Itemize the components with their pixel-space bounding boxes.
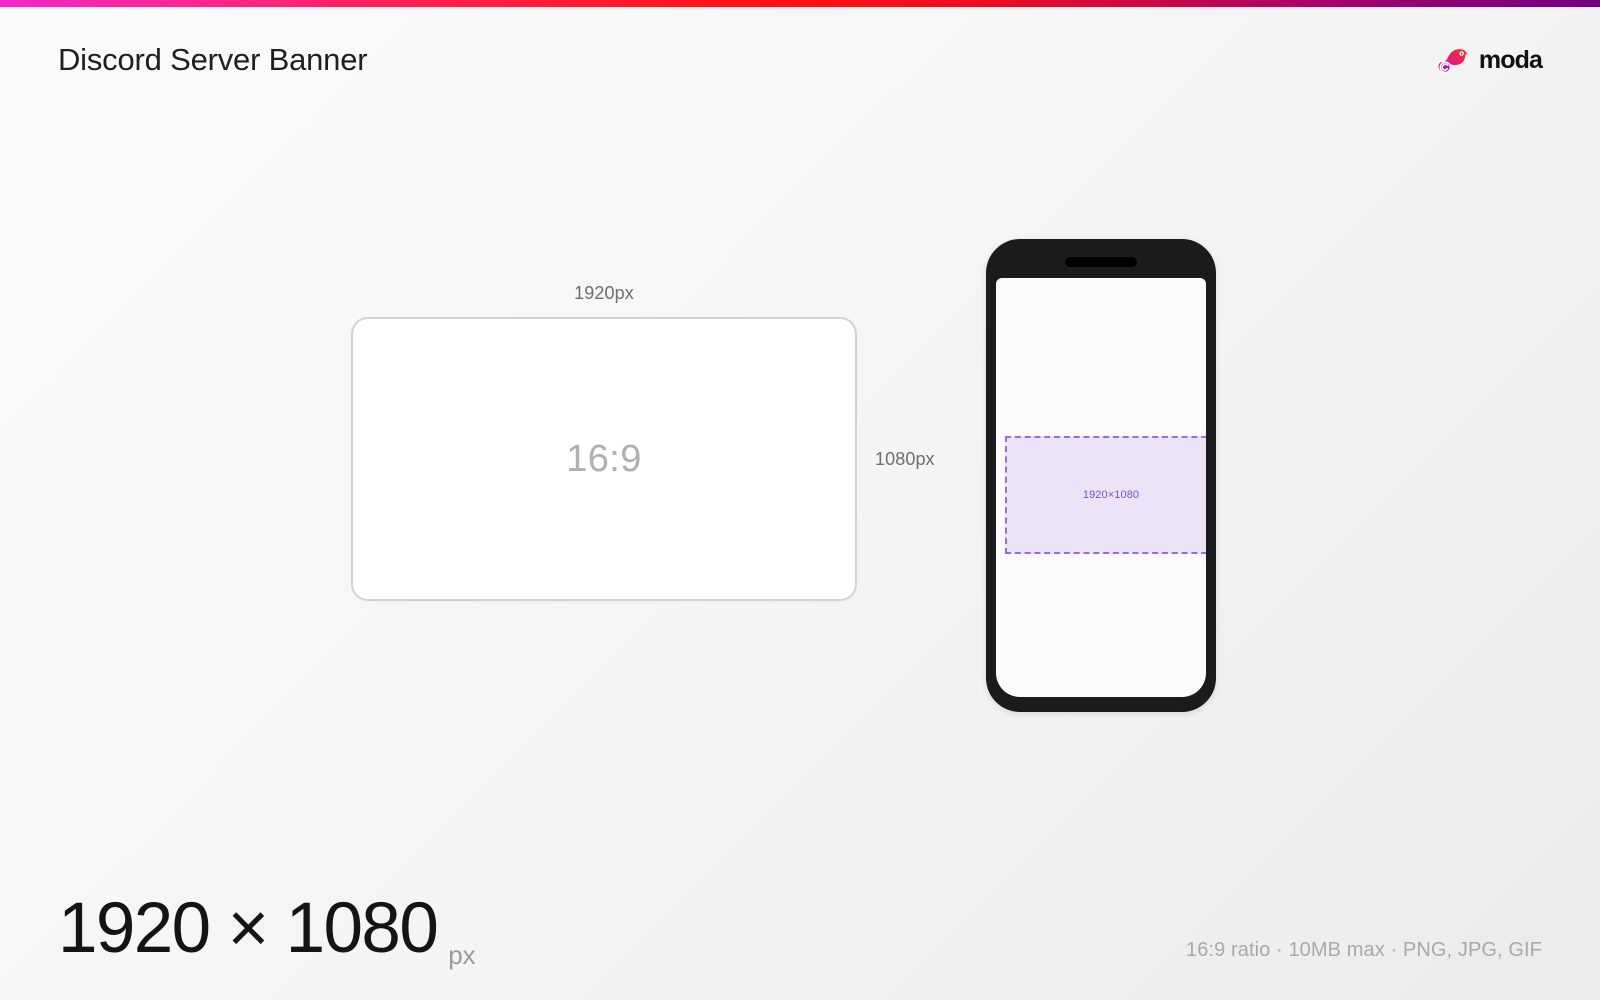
- aspect-ratio-label: 16:9: [566, 438, 642, 481]
- page-title: Discord Server Banner: [58, 44, 367, 75]
- banner-crop-label: 1920×1080: [1083, 489, 1139, 501]
- height-dimension-label: 1080px: [875, 449, 935, 470]
- aspect-ratio-card: 16:9: [351, 317, 857, 601]
- spec-meta-text: 16:9 ratio · 10MB max · PNG, JPG, GIF: [1186, 939, 1542, 962]
- brand-name: moda: [1479, 48, 1542, 73]
- page-header: Discord Server Banner: [0, 7, 1600, 112]
- phone-notch-speaker-icon: [1065, 257, 1137, 267]
- accent-gradient-bar: [0, 0, 1600, 7]
- desktop-preview-block: 1920px 16:9 1080px: [351, 317, 857, 601]
- width-dimension-label: 1920px: [351, 283, 857, 304]
- size-value: 1920 × 1080: [58, 893, 437, 964]
- banner-crop-region: 1920×1080: [1005, 436, 1206, 554]
- phone-mockup: 1920×1080: [986, 239, 1216, 712]
- preview-stage: 1920px 16:9 1080px 1920×1080: [0, 112, 1600, 842]
- phone-screen: 1920×1080: [996, 278, 1206, 697]
- page-footer: 1920 × 1080 px 16:9 ratio · 10MB max · P…: [0, 840, 1600, 1000]
- brand-logo: moda: [1436, 44, 1542, 78]
- size-unit: px: [448, 940, 475, 971]
- chameleon-logo-icon: [1436, 44, 1470, 78]
- size-readout: 1920 × 1080 px: [58, 893, 475, 964]
